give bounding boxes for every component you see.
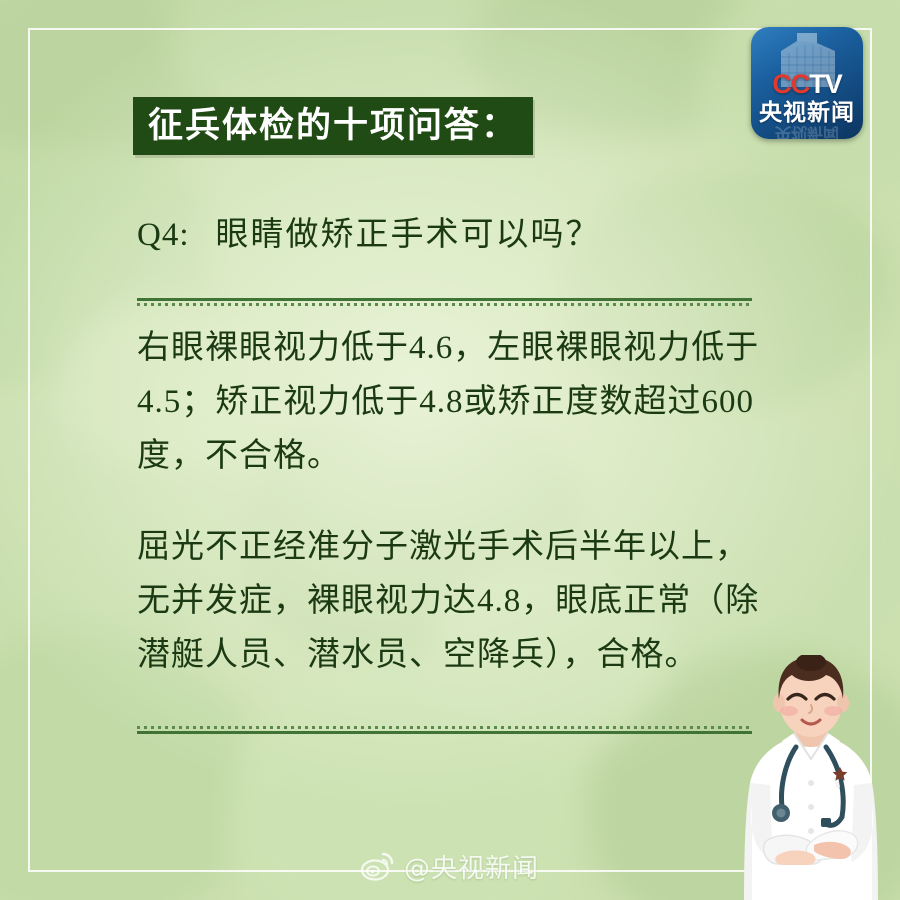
divider-bottom <box>137 726 752 733</box>
cctv-news-logo: CCTV 央视新闻 央视新闻 <box>751 27 863 139</box>
cctv-wordmark: CCTV <box>751 71 863 98</box>
cctv-wordmark-cc: CC <box>772 69 809 99</box>
weibo-handle: @央视新闻 <box>404 848 539 885</box>
banner-title: 征兵体检的十项问答： <box>148 109 518 144</box>
question-text: 眼睛做矫正手术可以吗？ <box>216 217 601 253</box>
divider-top <box>137 298 752 305</box>
footer-watermark: @央视新闻 <box>0 846 900 886</box>
question-id: Q4: <box>137 217 190 253</box>
cctv-news-subtitle: 央视新闻 <box>751 101 863 124</box>
answer-paragraph-1: 右眼裸眼视力低于4.6，左眼裸眼视力低于4.5；矫正视力低于4.8或矫正度数超过… <box>137 322 762 483</box>
poster-canvas: CCTV 央视新闻 央视新闻 征兵体检的十项问答： Q4:眼睛做矫正手术可以吗？… <box>0 0 900 900</box>
title-banner: 征兵体检的十项问答： <box>133 97 533 155</box>
weibo-icon <box>361 851 395 881</box>
cctv-wordmark-tv: TV <box>809 69 842 99</box>
question-line: Q4:眼睛做矫正手术可以吗？ <box>137 215 777 256</box>
answer-body: 右眼裸眼视力低于4.6，左眼裸眼视力低于4.5；矫正视力低于4.8或矫正度数超过… <box>137 322 762 683</box>
answer-paragraph-2: 屈光不正经准分子激光手术后半年以上，无并发症，裸眼视力达4.8，眼底正常（除潜艇… <box>137 521 762 682</box>
cctv-logo-reflection: 央视新闻 <box>751 123 863 139</box>
